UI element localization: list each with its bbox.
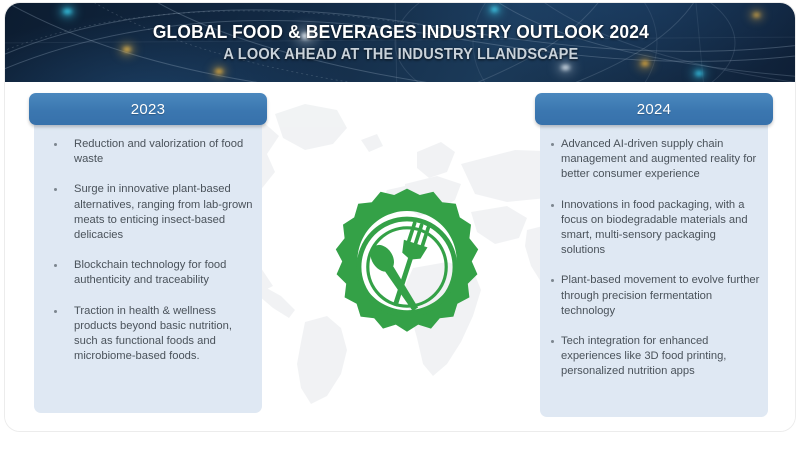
food-industry-gear-logo	[327, 187, 487, 347]
page-subtitle: A LOOK AHEAD AT THE INDUSTRY LLANDSCAPE	[223, 46, 578, 64]
card-header-2023: 2023	[29, 93, 267, 125]
list-item: Advanced AI-driven supply chain manageme…	[546, 137, 762, 183]
header-banner: GLOBAL FOOD & BEVERAGES INDUSTRY OUTLOOK…	[5, 3, 796, 82]
year-label-2023: 2023	[131, 101, 166, 118]
list-item: Reduction and valorization of food waste	[40, 137, 256, 167]
list-item: Surge in innovative plant-based alternat…	[40, 182, 256, 243]
page-title: GLOBAL FOOD & BEVERAGES INDUSTRY OUTLOOK…	[153, 21, 649, 42]
bullet-text: Plant-based movement to evolve further t…	[561, 273, 762, 319]
list-item: Blockchain technology for food authentic…	[40, 258, 256, 288]
bullet-list-2024: Advanced AI-driven supply chain manageme…	[546, 137, 762, 380]
content-area: 2023 Reduction and valorization of food …	[5, 82, 796, 432]
column-card-2024: 2024 Advanced AI-driven supply chain man…	[535, 93, 773, 417]
card-body-2024: Advanced AI-driven supply chain manageme…	[540, 121, 768, 417]
bullet-text: Innovations in food packaging, with a fo…	[561, 198, 762, 259]
year-label-2024: 2024	[637, 101, 672, 118]
main-panel: GLOBAL FOOD & BEVERAGES INDUSTRY OUTLOOK…	[4, 2, 796, 432]
list-item: Tech integration for enhanced experience…	[546, 334, 762, 380]
bullet-text: Tech integration for enhanced experience…	[561, 334, 762, 380]
card-body-2023: Reduction and valorization of food waste…	[34, 121, 262, 413]
list-item: Traction in health & wellness products b…	[40, 304, 256, 365]
list-item: Plant-based movement to evolve further t…	[546, 273, 762, 319]
card-header-2024: 2024	[535, 93, 773, 125]
bullet-text: Surge in innovative plant-based alternat…	[74, 182, 256, 243]
list-item: Innovations in food packaging, with a fo…	[546, 198, 762, 259]
bullet-text: Traction in health & wellness products b…	[74, 304, 256, 365]
bullet-list-2023: Reduction and valorization of food waste…	[40, 137, 256, 364]
header-text-block: GLOBAL FOOD & BEVERAGES INDUSTRY OUTLOOK…	[5, 3, 796, 82]
infographic-root: GLOBAL FOOD & BEVERAGES INDUSTRY OUTLOOK…	[0, 0, 800, 455]
bullet-text: Advanced AI-driven supply chain manageme…	[561, 137, 762, 183]
bullet-text: Reduction and valorization of food waste	[74, 137, 256, 167]
bullet-text: Blockchain technology for food authentic…	[74, 258, 256, 288]
column-card-2023: 2023 Reduction and valorization of food …	[29, 93, 267, 413]
